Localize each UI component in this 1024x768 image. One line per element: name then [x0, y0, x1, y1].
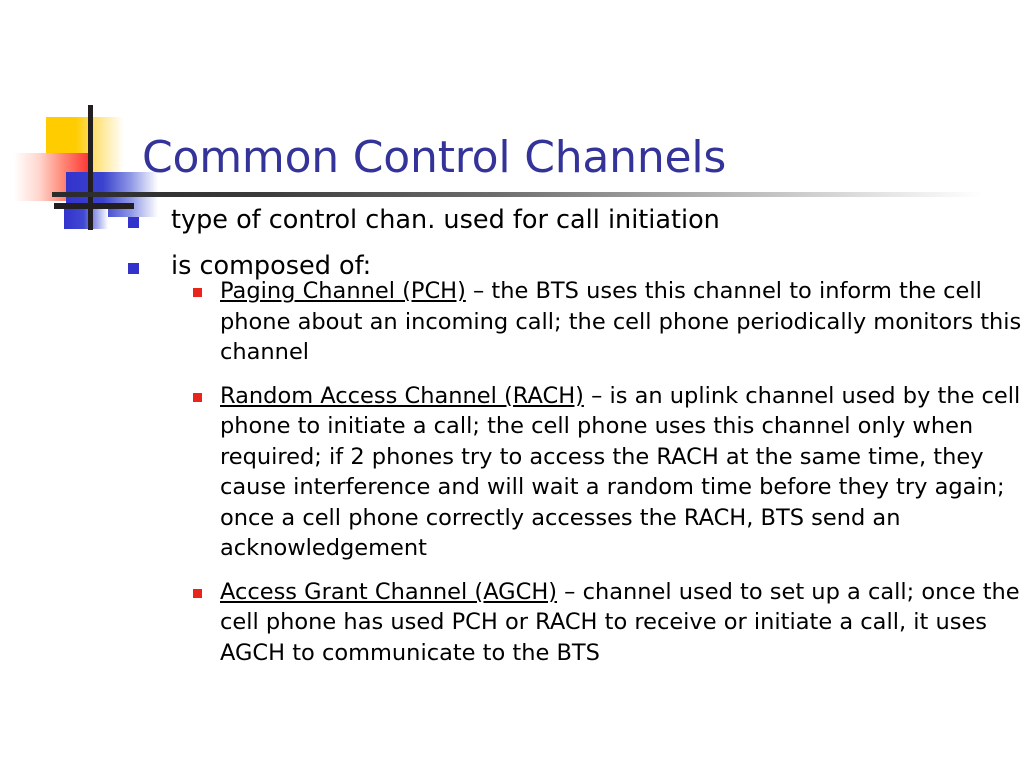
bullet-list-level2: Paging Channel (PCH) – the BTS uses this…: [171, 276, 1024, 668]
horizontal-rule-shape: [54, 203, 134, 209]
square-bullet-icon: [193, 288, 202, 297]
slide-body: type of control chan. used for call init…: [128, 204, 1024, 682]
list-item: Random Access Channel (RACH) – is an upl…: [171, 381, 1024, 564]
list-item-label: type of control chan. used for call init…: [171, 205, 720, 235]
page-title: Common Control Channels: [142, 131, 726, 185]
channel-term-label: Random Access Channel (RACH): [220, 383, 584, 409]
square-bullet-icon: [128, 217, 139, 228]
channel-term-label: Access Grant Channel (AGCH): [220, 579, 557, 605]
blue-small-square-shape: [64, 207, 108, 229]
list-item: Access Grant Channel (AGCH) – channel us…: [171, 577, 1024, 669]
list-item: is composed of: Paging Channel (PCH) – t…: [128, 250, 1024, 668]
bullet-list-level1: type of control chan. used for call init…: [128, 204, 1024, 668]
yellow-square-shape: [46, 117, 124, 179]
list-item: type of control chan. used for call init…: [128, 204, 1024, 236]
square-bullet-icon: [193, 589, 202, 598]
square-bullet-icon: [193, 393, 202, 402]
title-divider: [52, 192, 982, 197]
channel-description-label: – is an uplink channel used by the cell …: [220, 383, 1020, 562]
square-bullet-icon: [128, 263, 139, 274]
channel-term-label: Paging Channel (PCH): [220, 278, 466, 304]
list-item: Paging Channel (PCH) – the BTS uses this…: [171, 276, 1024, 368]
vertical-rule-shape: [88, 105, 93, 230]
